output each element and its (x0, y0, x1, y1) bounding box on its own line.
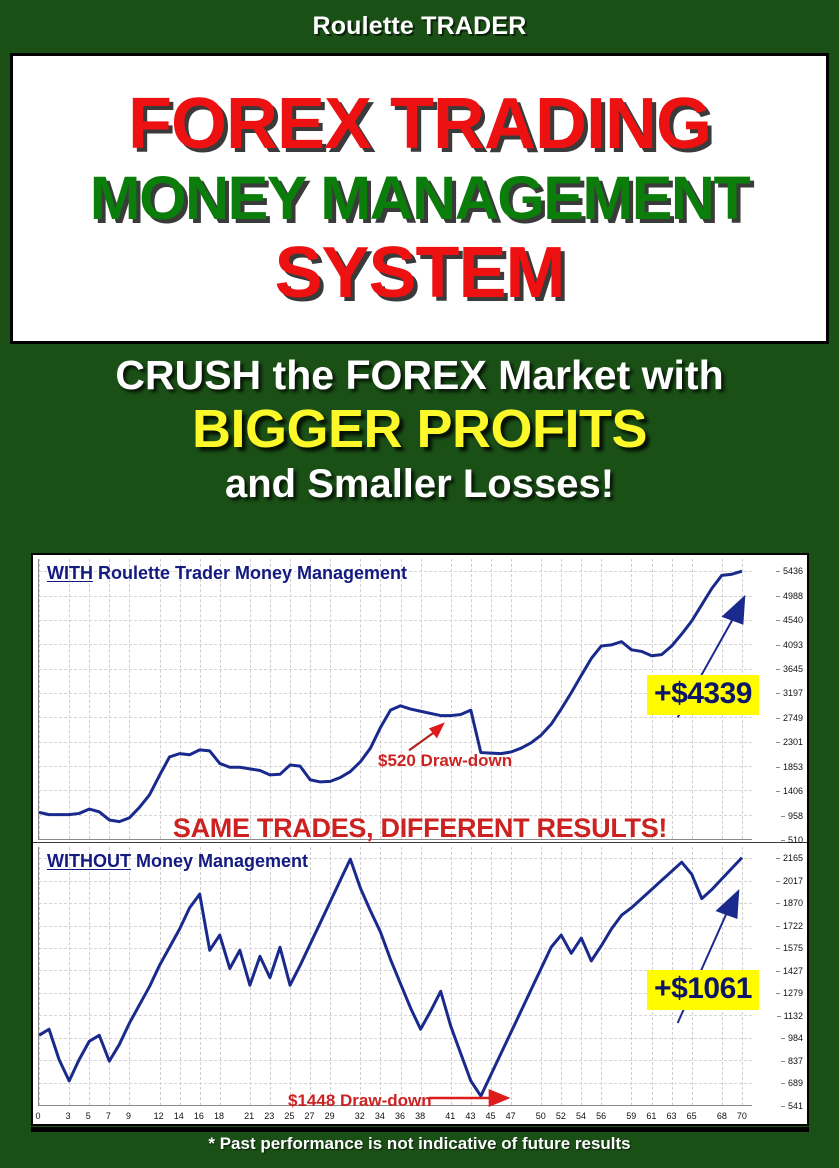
x-axis-tick-label: 41 (445, 1111, 455, 1121)
y-axis-tick-label: 3645 (783, 664, 803, 674)
x-axis-tick-label: 32 (355, 1111, 365, 1121)
chart-title-bottom-rest: Money Management (131, 851, 308, 871)
x-axis-tick-label: 12 (154, 1111, 164, 1121)
y-axis-tick-label: 2017 (783, 876, 803, 886)
headline-line-2: MONEY MANAGEMENT (90, 168, 749, 229)
chart-title-bottom-emphasis: WITHOUT (47, 851, 131, 871)
y-axis-tick-label: 1870 (783, 898, 803, 908)
x-axis-tick-label: 52 (556, 1111, 566, 1121)
x-axis-tick-label: 9 (126, 1111, 131, 1121)
y-axis-tick-label: 541 (788, 1101, 803, 1111)
x-axis-tick-label: 63 (667, 1111, 677, 1121)
headline-line-3: SYSTEM (274, 237, 564, 309)
y-axis-tick-label: 1575 (783, 943, 803, 953)
x-axis-tick-label: 25 (284, 1111, 294, 1121)
equity-polyline (39, 858, 742, 1096)
footer-disclaimer: * Past performance is not indicative of … (0, 1134, 839, 1154)
x-axis-tick-label: 70 (737, 1111, 747, 1121)
x-axis-tick-label: 36 (395, 1111, 405, 1121)
x-axis-tick-label: 59 (626, 1111, 636, 1121)
charts-frame: 5436498845404093364531972749230118531406… (31, 553, 809, 1126)
subtitle-line-1: CRUSH the FOREX Market with (0, 354, 839, 397)
x-axis-tick-label: 65 (687, 1111, 697, 1121)
y-axis-tick-label: 1722 (783, 921, 803, 931)
equity-line-top (39, 559, 752, 839)
x-axis-tick-label: 29 (325, 1111, 335, 1121)
chart-title-top-emphasis: WITH (47, 563, 93, 583)
x-axis-tick-label: 54 (576, 1111, 586, 1121)
profit-badge-bottom: +$1061 (647, 970, 759, 1010)
headline-panel: FOREX TRADING MONEY MANAGEMENT SYSTEM (10, 53, 829, 344)
x-axis-tick-label: 14 (174, 1111, 184, 1121)
y-axis-tick-label: 3197 (783, 688, 803, 698)
x-axis-tick-label: 5 (86, 1111, 91, 1121)
y-axis-tick-label: 837 (788, 1056, 803, 1066)
y-axis-tick-label: 1853 (783, 762, 803, 772)
x-axis-tick-label: 27 (305, 1111, 315, 1121)
profit-badge-top: +$4339 (647, 675, 759, 715)
chart-title-bottom: WITHOUT Money Management (47, 851, 308, 872)
x-axis-tick-label: 21 (244, 1111, 254, 1121)
equity-polyline (39, 571, 742, 821)
x-axis-tick-label: 7 (106, 1111, 111, 1121)
y-axis-tick-label: 4540 (783, 615, 803, 625)
x-axis-tick-label: 0 (35, 1111, 40, 1121)
footer-divider (31, 1127, 809, 1132)
y-axis-tick-label: 1132 (784, 1011, 803, 1021)
chart-title-top: WITH Roulette Trader Money Management (47, 563, 407, 584)
chart-panel-with-mm: 5436498845404093364531972749230118531406… (33, 555, 807, 843)
x-axis-tick-label: 47 (506, 1111, 516, 1121)
x-axis-tick-label: 18 (214, 1111, 224, 1121)
subtitle-line-3: and Smaller Losses! (0, 463, 839, 505)
y-axis-tick-label: 984 (788, 1033, 803, 1043)
chart-panel-without-mm: 2165201718701722157514271279113298483768… (33, 843, 807, 1124)
x-axis-tick-label: 50 (536, 1111, 546, 1121)
x-axis-tick-label: 68 (717, 1111, 727, 1121)
middle-banner-text: SAME TRADES, DIFFERENT RESULTS! (33, 813, 807, 844)
plot-area-bottom (38, 847, 752, 1106)
x-axis-tick-label: 56 (596, 1111, 606, 1121)
x-axis-tick-label: 16 (194, 1111, 204, 1121)
x-axis-tick-label: 43 (465, 1111, 475, 1121)
subtitle-block: CRUSH the FOREX Market with BIGGER PROFI… (0, 352, 839, 547)
drawdown-label-bottom: $1448 Draw-down (288, 1091, 432, 1111)
y-axis-tick-label: 2301 (783, 737, 803, 747)
plot-area-top (38, 559, 752, 840)
y-axis-tick-label: 689 (788, 1078, 803, 1088)
y-axis-bottom: 2165201718701722157514271279113298483768… (753, 847, 805, 1106)
chart-title-top-rest: Roulette Trader Money Management (93, 563, 407, 583)
x-axis-tick-label: 38 (415, 1111, 425, 1121)
y-axis-tick-label: 5436 (783, 566, 803, 576)
y-axis-tick-label: 4988 (783, 591, 803, 601)
y-axis-tick-label: 2749 (783, 713, 803, 723)
brand-bar: Roulette TRADER (0, 0, 839, 52)
y-axis-tick-label: 2165 (783, 853, 803, 863)
x-axis-tick-label: 34 (375, 1111, 385, 1121)
poster-root: Roulette TRADER FOREX TRADING MONEY MANA… (0, 0, 839, 1168)
drawdown-label-top: $520 Draw-down (378, 751, 512, 771)
y-axis-tick-label: 4093 (783, 640, 803, 650)
y-axis-tick-label: 1279 (783, 988, 803, 998)
headline-line-1: FOREX TRADING (128, 88, 711, 160)
brand-title: Roulette TRADER (312, 12, 526, 41)
x-axis-tick-label: 61 (646, 1111, 656, 1121)
y-axis-tick-label: 1406 (783, 786, 803, 796)
x-axis-tick-label: 45 (486, 1111, 496, 1121)
x-axis-tick-label: 23 (264, 1111, 274, 1121)
equity-line-bottom (39, 847, 752, 1105)
subtitle-line-2: BIGGER PROFITS (0, 401, 839, 458)
x-axis-tick-label: 3 (66, 1111, 71, 1121)
y-axis-tick-label: 1427 (783, 966, 803, 976)
y-axis-top: 5436498845404093364531972749230118531406… (753, 559, 805, 840)
